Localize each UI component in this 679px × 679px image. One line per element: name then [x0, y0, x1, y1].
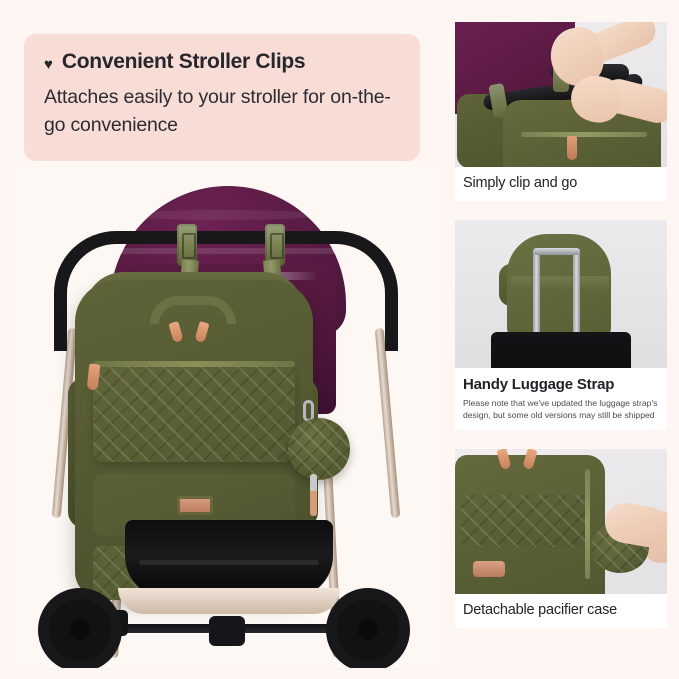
brand-logo-plate	[177, 496, 213, 515]
zipper-pull-icon	[496, 449, 511, 470]
luggage-handle-rod	[573, 250, 580, 342]
panel-caption: Handy Luggage Strap	[455, 368, 667, 398]
panel-photo-luggage-strap	[455, 220, 667, 368]
panel-handy-luggage-strap: Handy Luggage Strap Please note that we'…	[455, 220, 667, 430]
front-pocket-zipper	[93, 361, 295, 367]
zipper-pull-icon	[522, 449, 537, 470]
luggage-strap	[511, 276, 609, 292]
panel-photo-pacifier-case	[455, 449, 667, 594]
stroller-foot-bar	[118, 588, 340, 614]
pacifier-case-tassel	[310, 474, 317, 516]
stroller-storage-basket	[125, 520, 333, 598]
heart-icon: ♥	[44, 57, 53, 72]
woven-texture-pattern	[461, 495, 589, 547]
zipper-pull-icon	[194, 321, 209, 343]
callout-title: Convenient Stroller Clips	[62, 50, 305, 74]
stroller-center-joint	[209, 616, 245, 646]
feature-panel-column: Simply clip and go Handy Luggage Strap P…	[455, 22, 667, 647]
backpack-top-zipper-pulls	[161, 322, 221, 342]
feature-callout-card: ♥ Convenient Stroller Clips Attaches eas…	[24, 34, 420, 161]
zipper-pull-icon	[567, 136, 577, 160]
panel-caption: Simply clip and go	[455, 167, 667, 201]
backpack-top-zipper-pulls	[489, 449, 547, 471]
panel-detachable-pacifier-case: Detachable pacifier case	[455, 449, 667, 628]
stroller-wheel	[326, 588, 410, 668]
backpack-grab-handle	[150, 296, 236, 324]
suitcase	[491, 332, 631, 368]
product-feature-image: ♥ Convenient Stroller Clips Attaches eas…	[0, 0, 679, 679]
zipper-pull-icon	[168, 321, 183, 343]
panel-disclaimer-note: Please note that we've updated the lugga…	[455, 398, 667, 430]
panel-photo-clip-and-go	[455, 22, 667, 167]
pacifier-case	[288, 418, 350, 480]
side-zipper	[585, 469, 590, 579]
panel-simply-clip-and-go: Simply clip and go	[455, 22, 667, 201]
woven-texture-pattern	[288, 418, 350, 480]
backpack-front-pocket	[461, 495, 589, 547]
hero-product-photo	[10, 168, 440, 668]
luggage-handle-rod	[533, 250, 540, 342]
brand-logo-plate	[473, 561, 505, 577]
callout-subtitle: Attaches easily to your stroller for on-…	[44, 83, 398, 139]
backpack-front-pocket	[93, 364, 295, 462]
panel-caption: Detachable pacifier case	[455, 594, 667, 628]
luggage-handle-top	[533, 248, 580, 255]
woven-texture-pattern	[93, 364, 295, 462]
front-pocket-zipper	[521, 132, 647, 137]
callout-heading-row: ♥ Convenient Stroller Clips	[44, 50, 398, 74]
stroller-wheel	[38, 588, 122, 668]
